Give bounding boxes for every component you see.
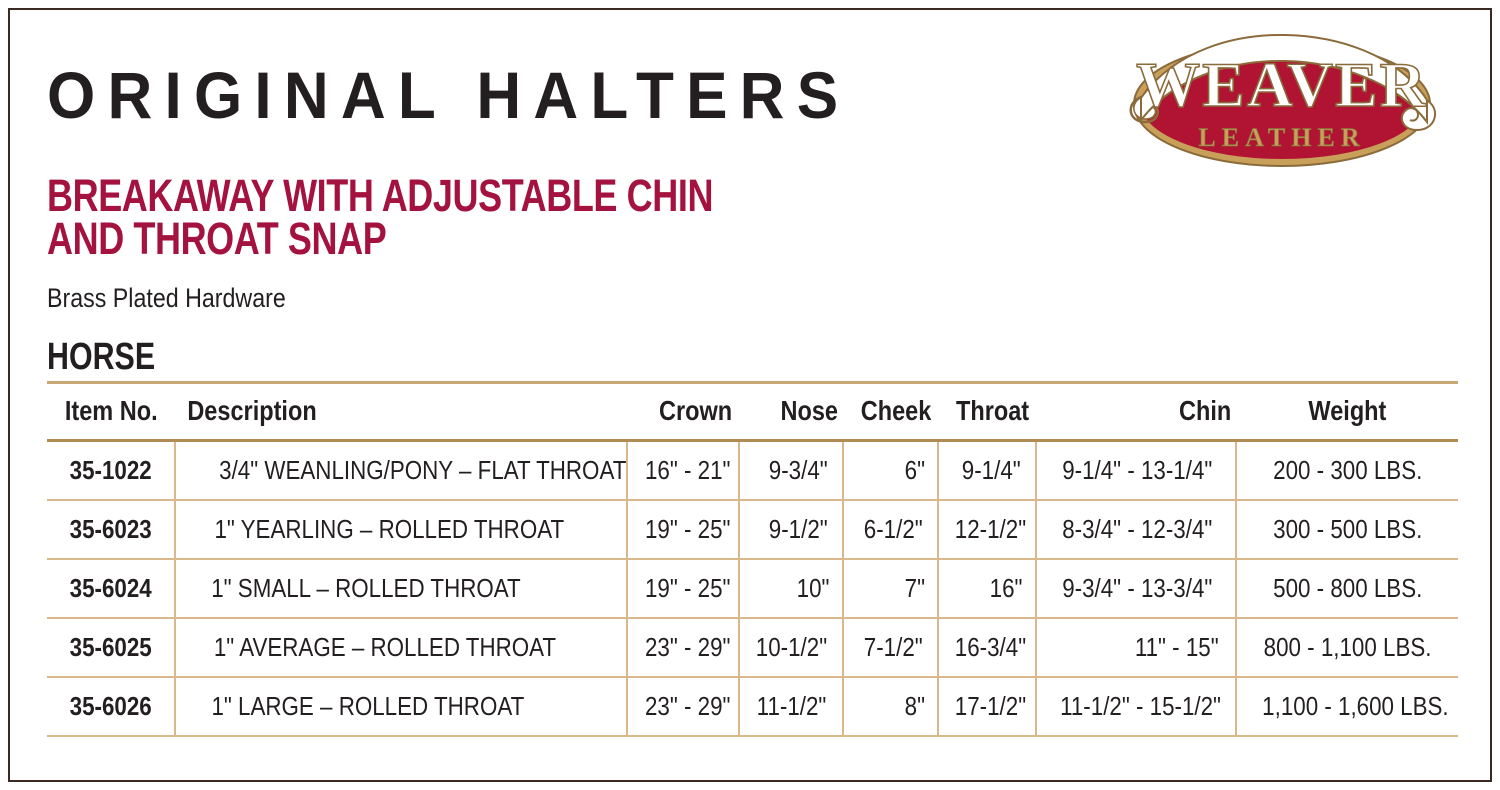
cell-nose: 9-1/2" [739,500,843,559]
cell-chin: 9-1/4" - 13-1/4" [1036,441,1236,500]
cell-crown: 19" - 25" [627,500,739,559]
spec-sheet-page: ORIGINAL HALTERS BREAKAWAY WITH ADJUSTAB… [0,0,1500,790]
cell-nose: 11-1/2" [739,677,843,736]
cell-weight: 800 - 1,100 LBS. [1236,618,1458,677]
cell-cheek: 7" [843,559,938,618]
cell-description: 3/4" WEANLING/PONY – FLAT THROAT [175,441,627,500]
cell-throat: 17-1/2" [938,677,1036,736]
cell-nose: 9-3/4" [739,441,843,500]
table-row: 35-1022 3/4" WEANLING/PONY – FLAT THROAT… [47,441,1458,500]
cell-cheek: 7-1/2" [843,618,938,677]
cell-throat: 9-1/4" [938,441,1036,500]
cell-weight: 300 - 500 LBS. [1236,500,1458,559]
logo-wordmark: WEAVER [1136,49,1428,120]
cell-cheek: 6-1/2" [843,500,938,559]
column-header-description: Description [175,395,627,441]
cell-weight: 1,100 - 1,600 LBS. [1236,677,1458,736]
column-header-cheek: Cheek [843,395,938,441]
column-header-nose: Nose [739,395,843,441]
cell-item-no: 35-6023 [47,500,175,559]
cell-description: 1" YEARLING – ROLLED THROAT [175,500,627,559]
cell-crown: 16" - 21" [627,441,739,500]
hardware-note: Brass Plated Hardware [47,283,286,314]
column-header-chin: Chin [1036,395,1236,441]
cell-chin: 9-3/4" - 13-3/4" [1036,559,1236,618]
cell-description: 1" SMALL – ROLLED THROAT [175,559,627,618]
cell-nose: 10-1/2" [739,618,843,677]
cell-weight: 200 - 300 LBS. [1236,441,1458,500]
cell-item-no: 35-6026 [47,677,175,736]
spec-table-body: 35-1022 3/4" WEANLING/PONY – FLAT THROAT… [47,441,1458,736]
table-row: 35-6023 1" YEARLING – ROLLED THROAT 19" … [47,500,1458,559]
table-row: 35-6024 1" SMALL – ROLLED THROAT 19" - 2… [47,559,1458,618]
cell-nose: 10" [739,559,843,618]
cell-description: 1" AVERAGE – ROLLED THROAT [175,618,627,677]
cell-cheek: 6" [843,441,938,500]
product-subtitle: BREAKAWAY WITH ADJUSTABLE CHIN AND THROA… [47,174,713,260]
page-title: ORIGINAL HALTERS [47,62,850,128]
column-header-crown: Crown [627,395,739,441]
column-header-weight: Weight [1236,395,1458,441]
spec-table-wrapper: Item No. Description Crown Nose Cheek Th… [47,395,1458,737]
cell-chin: 11-1/2" - 15-1/2" [1036,677,1236,736]
cell-throat: 16" [938,559,1036,618]
section-divider-rule [47,381,1458,384]
cell-description: 1" LARGE – ROLLED THROAT [175,677,627,736]
cell-chin: 8-3/4" - 12-3/4" [1036,500,1236,559]
column-header-item-no: Item No. [47,395,175,441]
cell-crown: 23" - 29" [627,677,739,736]
cell-crown: 23" - 29" [627,618,739,677]
column-header-throat: Throat [938,395,1036,441]
section-heading-horse: HORSE [47,336,155,379]
spec-table: Item No. Description Crown Nose Cheek Th… [47,395,1458,737]
cell-item-no: 35-6025 [47,618,175,677]
table-row: 35-6026 1" LARGE – ROLLED THROAT 23" - 2… [47,677,1458,736]
cell-chin: 11" - 15" [1036,618,1236,677]
cell-item-no: 35-1022 [47,441,175,500]
cell-item-no: 35-6024 [47,559,175,618]
table-header-row: Item No. Description Crown Nose Cheek Th… [47,395,1458,441]
table-row: 35-6025 1" AVERAGE – ROLLED THROAT 23" -… [47,618,1458,677]
cell-crown: 19" - 25" [627,559,739,618]
cell-throat: 12-1/2" [938,500,1036,559]
cell-weight: 500 - 800 LBS. [1236,559,1458,618]
cell-cheek: 8" [843,677,938,736]
weaver-leather-logo: WEAVER LEATHER [1105,26,1460,186]
logo-tagline: LEATHER [1198,123,1365,152]
cell-throat: 16-3/4" [938,618,1036,677]
